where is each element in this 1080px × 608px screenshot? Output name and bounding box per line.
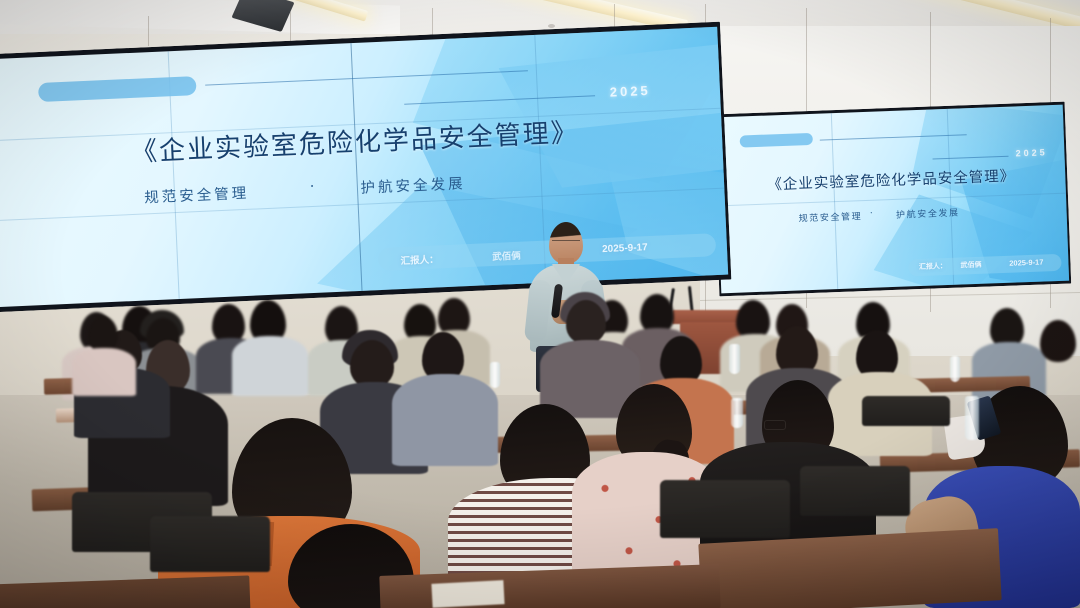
slide-subtitle-left: 规范安全管理 — [144, 182, 250, 208]
slide-subtitle-separator: · — [310, 179, 318, 195]
chair — [800, 466, 910, 516]
attendee-head — [350, 340, 394, 388]
slide-subtitle-separator: · — [870, 208, 876, 218]
slide-subtitle-left: 规范安全管理 — [798, 209, 862, 224]
wall-seam — [148, 16, 149, 46]
water-bottle — [950, 356, 960, 382]
attendee-body — [392, 374, 498, 466]
side-slide-surface: 2025 《企业实验室危险化学品安全管理》 规范安全管理 · 护航安全发展 汇报… — [715, 105, 1069, 294]
chair — [150, 516, 270, 572]
speaker-glasses-icon — [552, 240, 580, 245]
slide-year: 2025 — [609, 83, 651, 100]
paper-sheet — [431, 580, 504, 608]
ceiling-sensor-icon — [548, 24, 555, 28]
side-video-wall[interactable]: 2025 《企业实验室危险化学品安全管理》 规范安全管理 · 护航安全发展 汇报… — [713, 102, 1071, 297]
conference-room-photo: 2025 《企业实验室危险化学品安全管理》 规范安全管理 · 护航安全发展 汇报… — [0, 0, 1080, 608]
main-video-wall[interactable]: 2025 《企业实验室危险化学品安全管理》 规范安全管理 · 护航安全发展 汇报… — [0, 22, 731, 313]
slide-presenter-label: 汇报人： — [400, 251, 439, 267]
attendee-body — [72, 348, 136, 396]
attendee-head — [566, 300, 606, 344]
slide-presenter-label: 汇报人： — [919, 261, 947, 272]
slide-presenter-name: 武佰俩 — [960, 260, 981, 271]
slide-accent-pill — [740, 133, 813, 147]
slide-year: 2025 — [1016, 148, 1048, 159]
slide-presenter-name: 武佰俩 — [492, 248, 521, 263]
attendee-glasses-icon — [764, 420, 786, 430]
water-bottle — [729, 344, 740, 374]
water-bottle — [965, 396, 979, 440]
slide-subtitle-right: 护航安全发展 — [896, 205, 960, 220]
chair — [862, 396, 950, 426]
chair — [660, 480, 790, 538]
attendee-body — [232, 336, 308, 396]
main-slide-surface: 2025 《企业实验室危险化学品安全管理》 规范安全管理 · 护航安全发展 汇报… — [0, 27, 728, 307]
water-bottle — [731, 398, 743, 428]
slide-date: 2025-9-17 — [1009, 258, 1044, 268]
slide-accent-pill — [38, 76, 196, 102]
attendee-head — [88, 316, 118, 352]
slide-date: 2025-9-17 — [602, 242, 648, 255]
attendee-head — [1040, 320, 1076, 362]
water-bottle — [490, 362, 500, 388]
